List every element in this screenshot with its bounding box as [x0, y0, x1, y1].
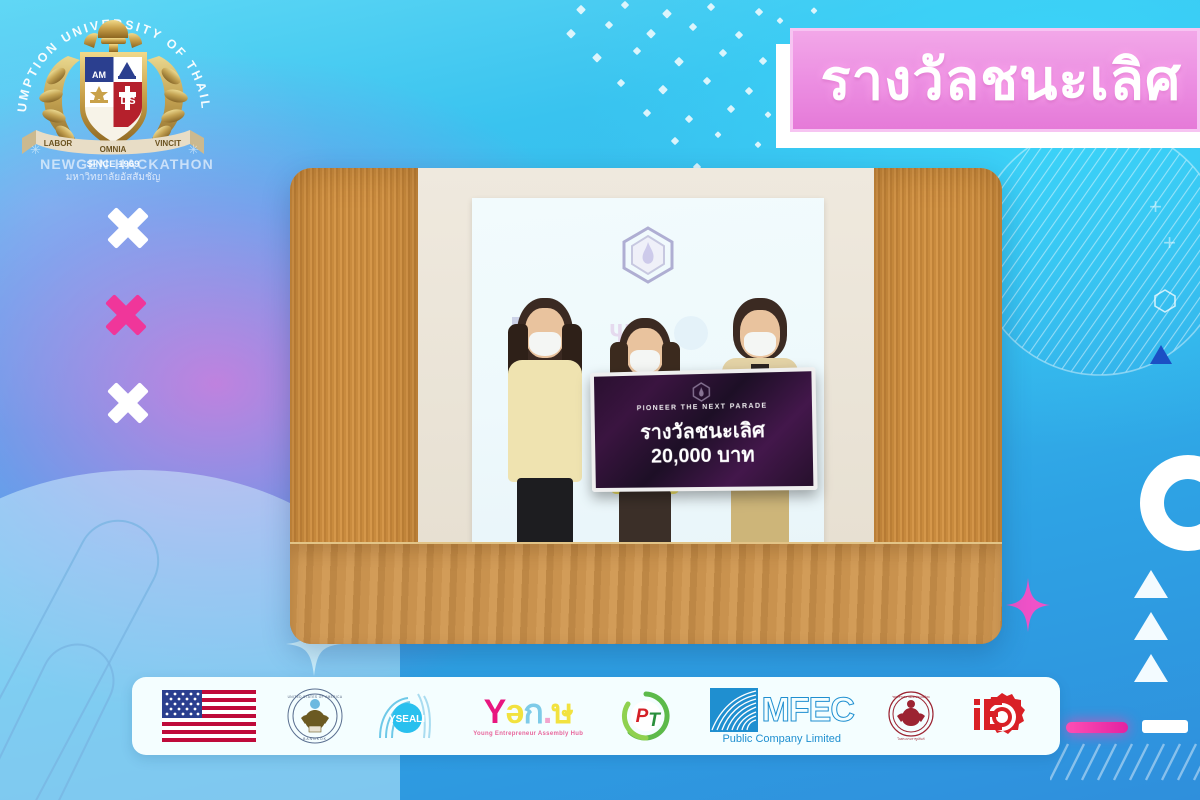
- prize-board: PIONEER THE NEXT PARADE รางวัลชนะเลิศ 20…: [590, 367, 818, 492]
- prize-board-logo-icon: [691, 382, 711, 402]
- us-embassy-seal-sub: BANGKOK: [303, 737, 327, 741]
- sponsor-thai-seal: วิศวกรรมสถานแห่งประเทศไทย ในพระบรมราชูปถ…: [885, 686, 937, 746]
- yseali-label: YSEALI: [389, 714, 425, 725]
- crest-star-right: ✳: [188, 142, 199, 157]
- triangle-blue-icon: [1150, 345, 1172, 364]
- sponsor-us-flag: [162, 686, 256, 746]
- crest-thai-name: มหาวิทยาลัยอัสสัมชัญ: [66, 172, 161, 183]
- thai-institution-seal-icon: วิศวกรรมสถานแห่งประเทศไทย ในพระบรมราชูปถ…: [885, 690, 937, 742]
- triangle-white-icon-3: [1134, 654, 1168, 682]
- x-mark-white-bottom-icon: [105, 380, 151, 426]
- prize-board-title: รางวัลชนะเลิศ: [595, 420, 813, 445]
- pink-bar-decoration: [1066, 722, 1128, 733]
- svg-text:P: P: [636, 706, 649, 727]
- svg-text:T: T: [649, 710, 662, 731]
- yeah-logo-tagline: Young Entrepreneur Assembly Hub: [473, 731, 583, 737]
- prize-board-eyebrow: PIONEER THE NEXT PARADE: [594, 402, 812, 414]
- ring-decoration: [1140, 455, 1200, 551]
- sponsor-ie: [968, 686, 1030, 746]
- event-name-label: NEWGEN HACKATHON: [32, 156, 222, 172]
- university-crest: ASSUMPTION UNIVERSITY OF THAILAND: [6, 4, 221, 189]
- yseali-logo-icon: YSEALI: [374, 688, 442, 744]
- sponsor-mfec: MFEC Public Company Limited: [710, 686, 854, 746]
- pt-logo-icon: P T: [614, 688, 678, 744]
- sparkle-pink-icon: [1006, 578, 1050, 632]
- crest-star-left: ✳: [30, 142, 41, 157]
- svg-text:วิศวกรรมสถานแห่งประเทศไทย: วิศวกรรมสถานแห่งประเทศไทย: [892, 695, 930, 699]
- hatch-strip-decoration: [1050, 740, 1200, 782]
- mfec-tagline: Public Company Limited: [722, 733, 841, 745]
- us-embassy-seal-icon: UNITED STATES OF AMERICA BANGKOK: [287, 688, 343, 744]
- hexagon-outline-icon: [1152, 288, 1178, 314]
- award-title-text: รางวัลชนะเลิศ: [809, 52, 1182, 108]
- sponsor-yseali: YSEALI: [374, 686, 442, 746]
- sponsor-yeah: Yәก.ษ Young Entrepreneur Assembly Hub: [473, 686, 583, 746]
- x-mark-pink-icon: [103, 292, 149, 338]
- us-flag-icon: [162, 690, 256, 742]
- slide-canvas: + + ASSUMPTION UNIVERSITY O: [0, 0, 1200, 800]
- svg-text:ในพระบรมราชูปถัมภ์: ในพระบรมราชูปถัมภ์: [898, 737, 925, 741]
- crest-motto-right: VINCIT: [155, 139, 181, 148]
- triangle-white-icon-2: [1134, 612, 1168, 640]
- yeah-logo-mark: Yәก.ษ: [473, 695, 583, 729]
- mfec-wordmark: MFEC: [762, 693, 854, 727]
- x-mark-white-top-icon: [105, 205, 151, 251]
- plus-decoration-1: +: [1149, 196, 1162, 218]
- svg-text:UNITED STATES OF AMERICA: UNITED STATES OF AMERICA: [287, 695, 342, 699]
- white-bar-decoration: [1142, 720, 1188, 733]
- plus-decoration-2: +: [1163, 232, 1176, 254]
- ceremony-photo-frame[interactable]: Ψ ก.ษ: [290, 168, 1002, 644]
- ie-logo-icon: [968, 687, 1030, 745]
- award-title-banner: รางวัลชนะเลิศ: [790, 28, 1200, 132]
- crest-shield-initials-1: AM: [92, 70, 106, 80]
- prize-board-amount: 20,000 บาท: [595, 444, 813, 468]
- newgen-hex-logo-icon: [617, 224, 679, 286]
- mfec-mark-icon: [710, 688, 758, 732]
- sponsor-pt: P T: [614, 686, 678, 746]
- sponsor-logo-bar: UNITED STATES OF AMERICA BANGKOK YSEALI: [132, 677, 1060, 755]
- stage-floor: [290, 544, 1002, 644]
- crest-motto-left: LABOR: [44, 139, 73, 148]
- triangle-white-icon-1: [1134, 570, 1168, 598]
- crest-motto-center: OMNIA: [100, 145, 127, 154]
- sponsor-us-embassy: UNITED STATES OF AMERICA BANGKOK: [287, 686, 343, 746]
